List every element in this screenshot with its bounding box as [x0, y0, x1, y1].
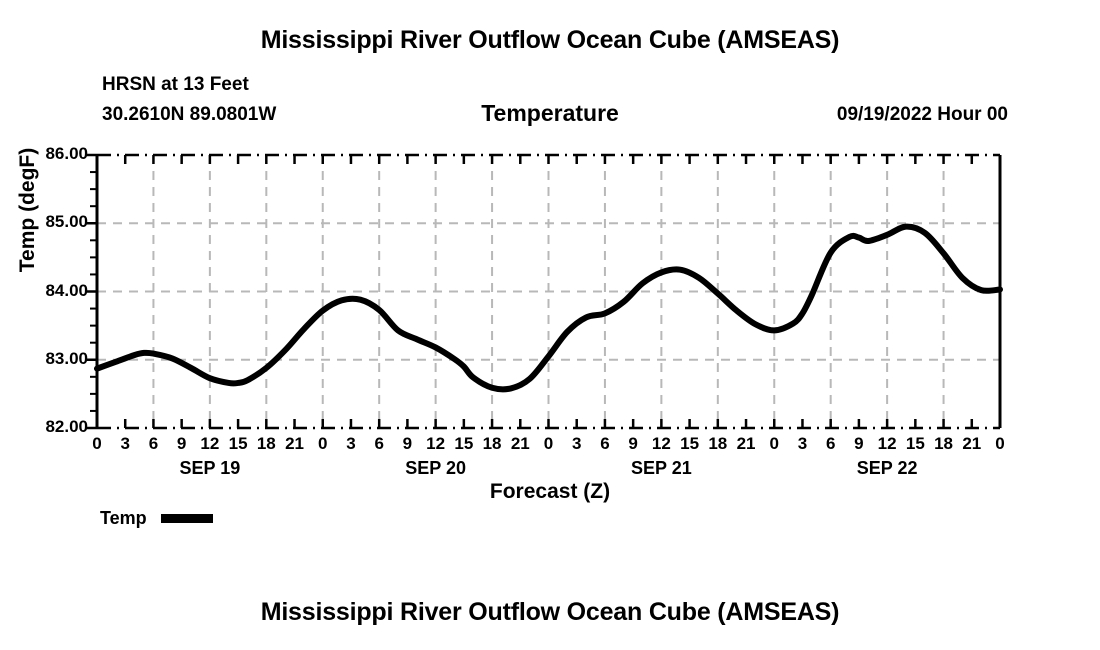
legend-label-temp: Temp: [100, 508, 147, 529]
axis-ticks-layer: [86, 155, 1000, 428]
x-day-label: SEP 21: [601, 458, 721, 479]
grid-layer: [97, 155, 1000, 428]
legend-swatch-temp: [161, 514, 213, 523]
bottom-title: Mississippi River Outflow Ocean Cube (AM…: [0, 598, 1100, 627]
x-axis-title: Forecast (Z): [0, 480, 1100, 504]
x-day-label: SEP 20: [376, 458, 496, 479]
x-day-label: SEP 22: [827, 458, 947, 479]
plot-canvas: [0, 0, 1100, 650]
x-tick-label: 0: [983, 434, 1017, 454]
legend: Temp: [100, 508, 213, 529]
chart-page: Mississippi River Outflow Ocean Cube (AM…: [0, 0, 1100, 650]
x-day-label: SEP 19: [150, 458, 270, 479]
